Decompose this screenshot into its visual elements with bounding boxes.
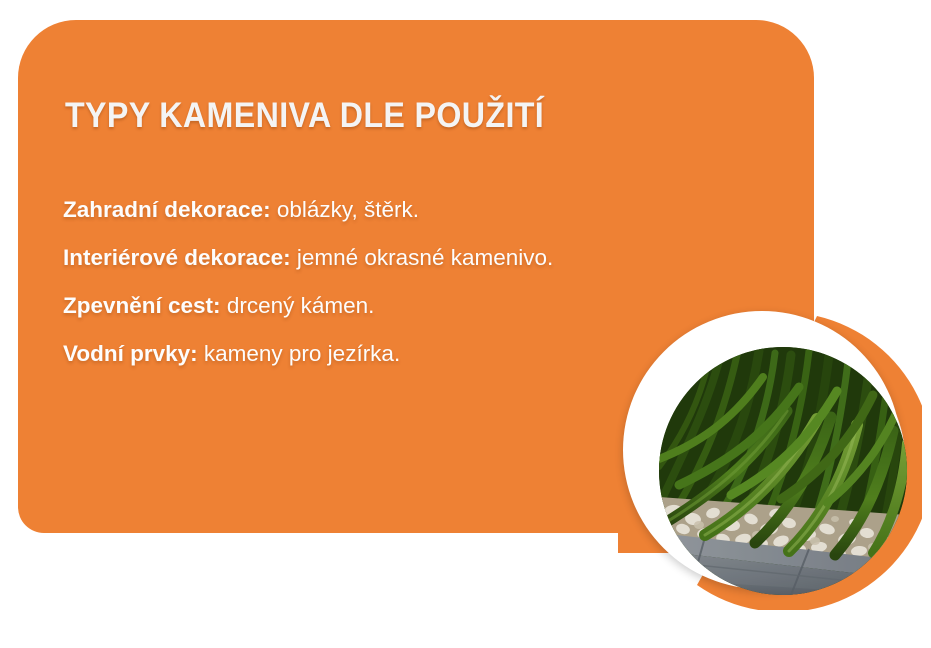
list-item-value: oblázky, štěrk. — [277, 197, 419, 222]
list-item: Interiérové dekorace: jemné okrasné kame… — [63, 234, 803, 282]
list-item-label: Interiérové dekorace: — [63, 245, 291, 270]
photo-badge — [602, 290, 922, 610]
list-item-value: jemné okrasné kamenivo. — [297, 245, 553, 270]
list-item-value: drcený kámen. — [227, 293, 375, 318]
gravel-plant-photo — [659, 347, 907, 595]
white-photo-frame — [623, 311, 901, 589]
list-item-label: Vodní prvky: — [63, 341, 198, 366]
infographic-card: TYPY KAMENIVA DLE POUŽITÍ Zahradní dekor… — [0, 0, 931, 648]
list-item: Zahradní dekorace: oblázky, štěrk. — [63, 186, 803, 234]
list-item-value: kameny pro jezírka. — [204, 341, 400, 366]
page-title: TYPY KAMENIVA DLE POUŽITÍ — [65, 95, 544, 137]
list-item-label: Zahradní dekorace: — [63, 197, 271, 222]
list-item-label: Zpevnění cest: — [63, 293, 221, 318]
